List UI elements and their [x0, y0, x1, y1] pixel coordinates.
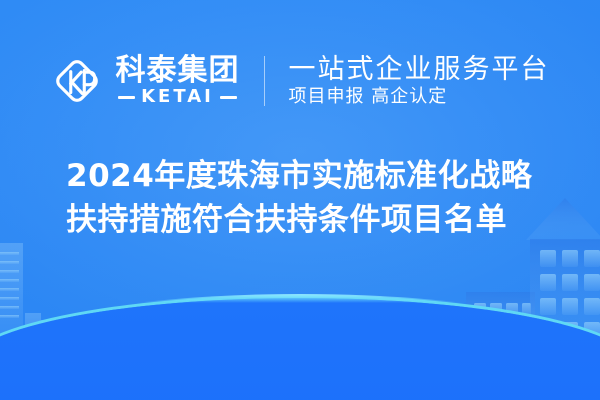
brand-dash-left	[118, 96, 135, 99]
building-mid-low-block	[466, 292, 535, 354]
building-right-peaked-tower	[526, 198, 600, 360]
brand-dash-right	[220, 96, 237, 99]
brand-text-block: 科泰集团 KETAI	[116, 56, 240, 106]
brand-name-en-row: KETAI	[118, 88, 237, 106]
banner-header: 科泰集团 KETAI 一站式企业服务平台 项目申报 高企认定	[0, 36, 600, 126]
tagline-block: 一站式企业服务平台 项目申报 高企认定	[289, 56, 550, 106]
tagline-sub: 项目申报 高企认定	[289, 88, 550, 106]
brand-name-cn: 科泰集团	[116, 56, 240, 86]
building-left-tower	[0, 243, 23, 353]
brand-name-en: KETAI	[141, 88, 214, 106]
bottom-curved-band	[0, 272, 600, 400]
bottom-band-highlight	[0, 294, 600, 400]
banner-root: 科泰集团 KETAI 一站式企业服务平台 项目申报 高企认定 2024年度珠海市…	[0, 0, 600, 400]
brand-lockup: 科泰集团 KETAI	[51, 55, 240, 107]
ketai-diamond-monogram-logo-icon	[51, 55, 103, 107]
tagline-main: 一站式企业服务平台	[289, 56, 550, 83]
building-left-small-block	[25, 313, 61, 355]
bottom-band-fill	[0, 298, 600, 400]
header-divider	[264, 56, 265, 106]
page-title: 2024年度珠海市实施标准化战略扶持措施符合扶持条件项目名单	[66, 154, 536, 242]
